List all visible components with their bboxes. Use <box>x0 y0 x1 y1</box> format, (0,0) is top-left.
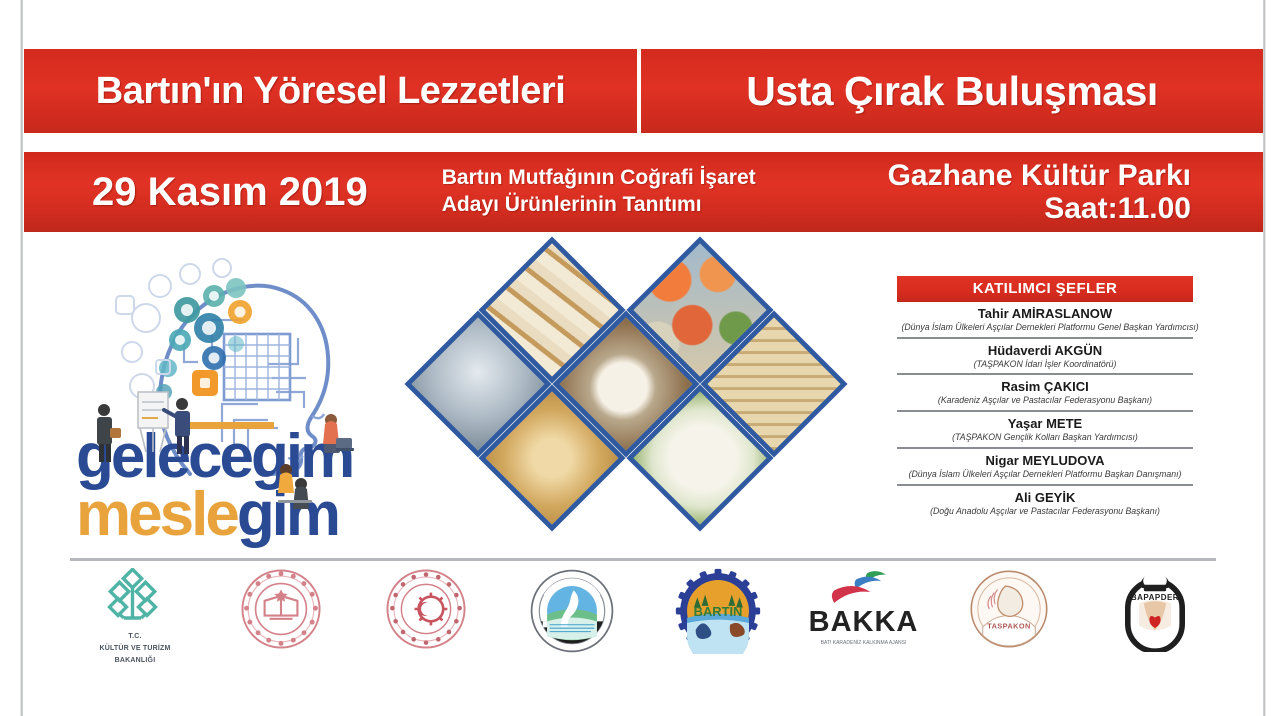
event-date: 29 Kasım 2019 <box>92 170 368 215</box>
poster-frame-left-border <box>20 0 23 716</box>
sponsor-bartin-tso: BARTIN <box>653 568 783 676</box>
event-time: Saat:11.00 <box>888 192 1191 225</box>
gelecegim-meslegim-logo: gelecegim meslegim <box>72 252 372 552</box>
bakka-birds-icon <box>817 568 911 608</box>
food-photo-collage <box>424 248 864 548</box>
ticaret-bakanligi-seal-icon <box>385 568 467 650</box>
bakka-wordmark: BAKKA <box>809 608 919 637</box>
participating-chefs-panel: KATILIMCI ŞEFLER Tahir AMİRASLANOW (Düny… <box>897 276 1193 520</box>
logo-word-mesle: mesle <box>76 480 237 549</box>
sponsor-caption-tc: T.C. <box>128 633 141 642</box>
sponsor-bartin-belediyesi <box>507 568 637 676</box>
chefs-panel-header: KATILIMCI ŞEFLER <box>897 276 1193 302</box>
bapapder-seal-icon: BAPAPDER <box>1115 568 1195 652</box>
milli-egitim-bakanligi-seal-icon <box>240 568 322 650</box>
info-banner: 29 Kasım 2019 Bartın Mutfağının Coğrafi … <box>24 152 1263 232</box>
event-poster: Bartın'ın Yöresel Lezzetleri Usta Çırak … <box>0 0 1280 716</box>
event-subject: Bartın Mutfağının Coğrafi İşaret Adayı Ü… <box>442 165 756 219</box>
sponsor-kultur-turizm-bakanligi: T.C. KÜLTÜR VE TURİZM BAKANLIĞI <box>70 568 200 676</box>
chef-entry: Yaşar METE (TAŞPAKON Gençlik Kolları Baş… <box>897 412 1193 449</box>
sponsor-milli-egitim-bakanligi <box>216 568 346 676</box>
chef-role: (TAŞPAKON İdari İşler Koordinatörü) <box>901 359 1188 370</box>
title-banner: Bartın'ın Yöresel Lezzetleri Usta Çırak … <box>24 49 1263 133</box>
bartin-belediyesi-seal-icon <box>529 568 615 654</box>
sponsor-ticaret-bakanligi <box>361 568 491 676</box>
chef-entry: Rasim ÇAKICI (Karadeniz Aşçılar ve Pasta… <box>897 375 1193 412</box>
chef-entry: Hüdaverdi AKGÜN (TAŞPAKON İdari İşler Ko… <box>897 339 1193 376</box>
bakka-subtitle: BATI KARADENİZ KALKINMA AJANSI <box>821 640 907 646</box>
logo-wordmark: gelecegim meslegim <box>76 428 372 543</box>
title-banner-left: Bartın'ın Yöresel Lezzetleri <box>24 49 637 133</box>
chef-entry: Ali GEYİK (Doğu Anadolu Aşçılar ve Pasta… <box>897 486 1193 521</box>
logo-word-line-1: gelecegim <box>76 428 372 486</box>
logo-word-line-2: meslegim <box>76 486 372 544</box>
event-venue-block: Gazhane Kültür Parkı Saat:11.00 <box>888 159 1191 225</box>
chef-role: (Doğu Anadolu Aşçılar ve Pastacılar Fede… <box>901 506 1188 517</box>
chef-name: Hüdaverdi AKGÜN <box>897 344 1193 359</box>
chef-name: Ali GEYİK <box>897 491 1193 506</box>
sponsor-logo-row: T.C. KÜLTÜR VE TURİZM BAKANLIĞI <box>70 568 1220 678</box>
event-subject-line-2: Adayı Ürünlerinin Tanıtımı <box>442 193 702 216</box>
poster-title-left: Bartın'ın Yöresel Lezzetleri <box>96 70 566 113</box>
chef-entry: Nigar MEYLUDOVA (Dünya İslam Ülkeleri Aş… <box>897 449 1193 486</box>
taspakon-seal-icon: TASPAKON <box>968 568 1050 650</box>
event-venue: Gazhane Kültür Parkı <box>888 159 1191 192</box>
chef-role: (Karadeniz Aşçılar ve Pastacılar Federas… <box>901 395 1188 406</box>
poster-frame-right-border <box>1263 0 1266 716</box>
svg-text:BARTIN: BARTIN <box>693 604 742 619</box>
chef-role: (TAŞPAKON Gençlik Kolları Başkan Yardımc… <box>901 432 1188 443</box>
sponsor-bakka: BAKKA BATI KARADENİZ KALKINMA AJANSI <box>799 568 929 676</box>
title-banner-right: Usta Çırak Buluşması <box>641 49 1263 133</box>
sponsor-taspakon: TASPAKON <box>944 568 1074 676</box>
bartin-tso-seal-icon: BARTIN <box>675 568 761 654</box>
chef-name: Tahir AMİRASLANOW <box>897 307 1193 322</box>
event-subject-line-1: Bartın Mutfağının Coğrafi İşaret <box>442 166 756 189</box>
chef-name: Nigar MEYLUDOVA <box>897 454 1193 469</box>
svg-text:BAPAPDER: BAPAPDER <box>1131 593 1179 602</box>
sponsor-caption-bakanligi: BAKANLIĞI <box>115 657 156 666</box>
logo-word-gim-bottom: gim <box>237 480 338 549</box>
footer-divider <box>70 558 1216 561</box>
svg-text:TASPAKON: TASPAKON <box>987 622 1031 631</box>
chef-name: Yaşar METE <box>897 417 1193 432</box>
chef-name: Rasim ÇAKICI <box>897 380 1193 395</box>
poster-title-right: Usta Çırak Buluşması <box>746 68 1158 115</box>
chef-role: (Dünya İslam Ülkeleri Aşçılar Dernekleri… <box>901 469 1188 480</box>
sponsor-bapapder: BAPAPDER <box>1090 568 1220 676</box>
chef-entry: Tahir AMİRASLANOW (Dünya İslam Ülkeleri … <box>897 302 1193 339</box>
sponsor-caption-main: KÜLTÜR VE TURİZM <box>99 645 170 654</box>
chef-role: (Dünya İslam Ülkeleri Aşçılar Dernekleri… <box>901 322 1188 333</box>
kultur-turizm-bakanligi-logo-icon <box>106 568 164 630</box>
